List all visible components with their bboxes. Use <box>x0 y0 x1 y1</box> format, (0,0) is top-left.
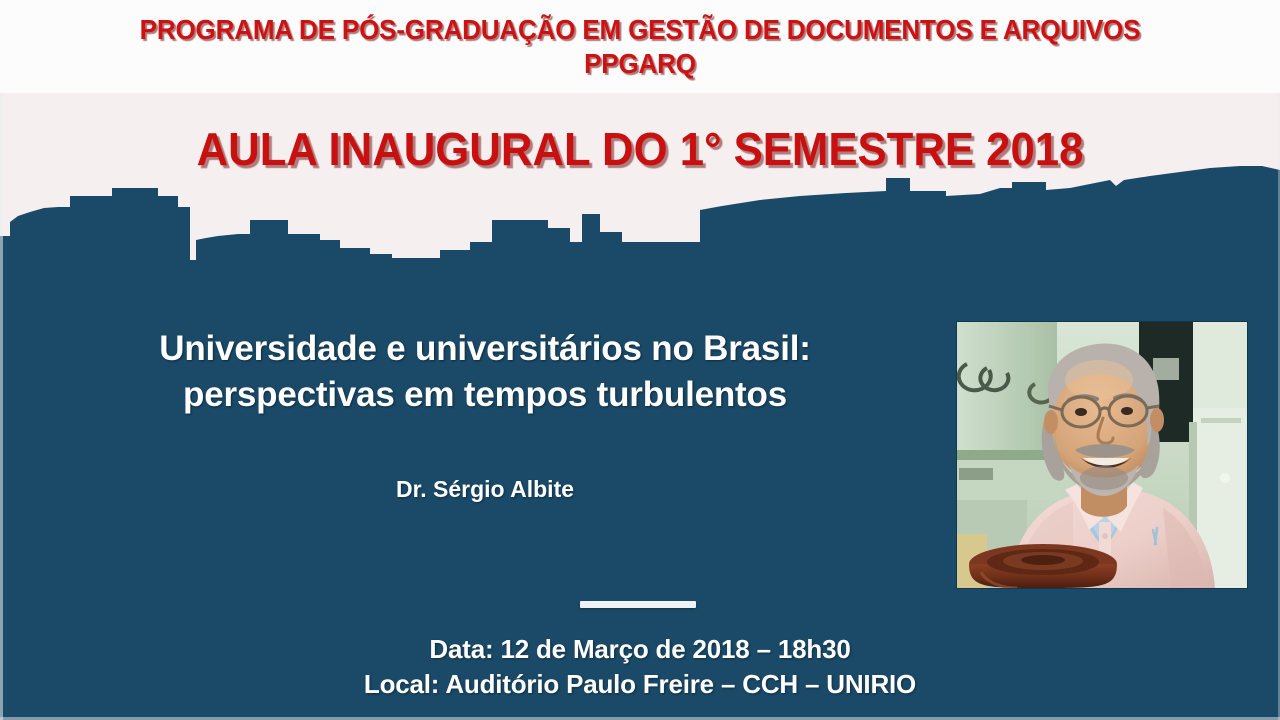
header-band: PROGRAMA DE PÓS-GRADUAÇÃO EM GESTÃO DE D… <box>0 0 1280 93</box>
divider-rule <box>580 601 696 608</box>
event-title: AULA INAUGURAL DO 1° SEMESTRE 2018 <box>32 122 1248 176</box>
speaker-photo <box>957 322 1247 588</box>
program-title: PROGRAMA DE PÓS-GRADUAÇÃO EM GESTÃO DE D… <box>121 13 1159 79</box>
event-date: Data: 12 de Março de 2018 – 18h30 <box>0 632 1280 667</box>
talk-title: Universidade e universitários no Brasil:… <box>40 326 930 418</box>
event-poster: PROGRAMA DE PÓS-GRADUAÇÃO EM GESTÃO DE D… <box>0 0 1280 720</box>
page-edge-left <box>0 93 3 720</box>
speaker-name: Dr. Sérgio Albite <box>40 476 930 503</box>
event-location: Local: Auditório Paulo Freire – CCH – UN… <box>0 667 1280 702</box>
event-details: Data: 12 de Março de 2018 – 18h30 Local:… <box>0 632 1280 701</box>
speaker-photo-image <box>957 322 1247 588</box>
